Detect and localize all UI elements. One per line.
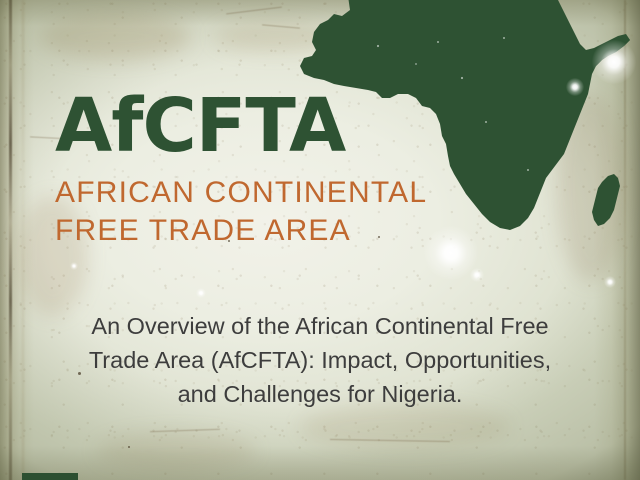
title-block: AfCFTA AFRICAN CONTINENTAL FREE TRADE AR… [55,92,475,250]
poster-canvas: AfCFTA AFRICAN CONTINENTAL FREE TRADE AR… [0,0,640,480]
footer-accent-bar [22,473,78,480]
description-line: An Overview of the African Continental F… [34,310,606,344]
description-line: and Challenges for Nigeria. [34,378,606,412]
paper-speck [128,446,130,448]
subtitle-line-2: FREE TRADE AREA [55,212,475,250]
subtitle-line-1: AFRICAN CONTINENTAL [55,174,475,212]
description-line: Trade Area (AfCFTA): Impact, Opportuniti… [34,344,606,378]
brand-title: AfCFTA [55,92,475,160]
description-paragraph: An Overview of the African Continental F… [34,310,606,411]
